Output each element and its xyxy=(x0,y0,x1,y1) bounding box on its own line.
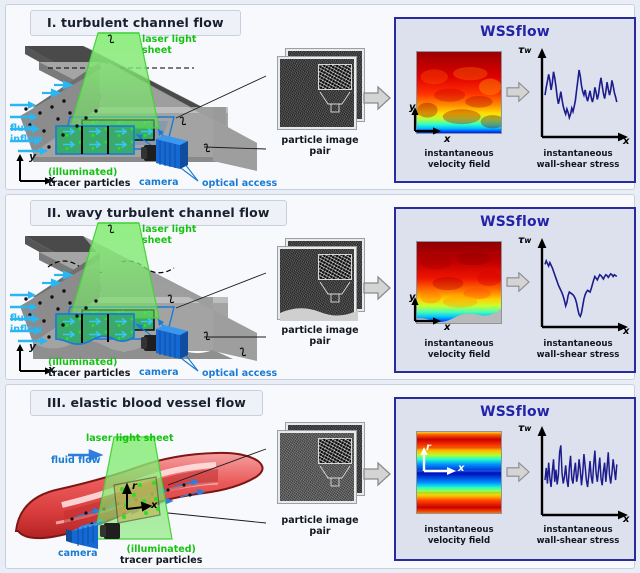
wssflow-title: WSSflow xyxy=(396,24,634,40)
label-laser-light-sheet: laser light sheet xyxy=(86,434,174,445)
vessel-axis-x-label: x xyxy=(151,500,157,511)
wssflow-title: WSSflow xyxy=(396,214,634,230)
label-laser-light-sheet: laser light sheet xyxy=(142,35,196,56)
velocity-field-r-label: r xyxy=(426,442,431,453)
particle-image-pair: particle image pair xyxy=(274,49,366,159)
velocity-field-caption: instantaneous velocity field xyxy=(404,525,514,546)
scene-wavy-turbulent-channel-duct: y x laser light sheet fluid inflow (illu… xyxy=(8,211,270,379)
wall-shear-stress-plot xyxy=(532,423,632,523)
stress-plot-svg xyxy=(532,235,632,335)
label-fluid-inflow: fluid inflow xyxy=(10,124,42,145)
velocity-field-caption: instantaneous velocity field xyxy=(404,149,514,170)
particle-image-front xyxy=(278,431,356,503)
label-laser-light-sheet: laser light sheet xyxy=(142,225,196,246)
velocity-field-y-label: y xyxy=(409,102,416,113)
particle-image-pair: particle image pair xyxy=(274,423,366,533)
stress-plot-caption: instantaneous wall-shear stress xyxy=(522,149,634,170)
particle-image-caption: particle image pair xyxy=(272,325,368,348)
velocity-field-y-label: y xyxy=(409,292,416,303)
tau-subscript: w xyxy=(524,424,531,433)
label-camera: camera xyxy=(139,368,178,379)
stress-plot-y-label: τw xyxy=(518,45,531,56)
tau-subscript: w xyxy=(524,236,531,245)
label-tracer-particles: (illuminated)tracer particles xyxy=(48,168,130,189)
wall-shear-stress-plot xyxy=(532,45,632,145)
panel-elastic-blood-vessel-flow: III. elastic blood vessel flow xyxy=(5,384,635,569)
label-optical-access: optical access xyxy=(202,369,277,380)
scene-elastic-blood-vessel: laser light sheet fluid flow camera (ill… xyxy=(8,401,270,569)
panel-turbulent-channel-flow: I. turbulent channel flow xyxy=(5,4,635,190)
label-tracer-particles: (illuminated)tracer particles xyxy=(48,358,130,379)
stress-plot-x-label: x xyxy=(623,136,629,147)
arrow-to-wssflow xyxy=(363,85,391,115)
label-optical-access: optical access xyxy=(202,179,277,190)
vessel-axis-r-label: r xyxy=(132,481,137,492)
stress-plot-y-label: τw xyxy=(518,423,531,434)
stress-plot-x-label: x xyxy=(623,326,629,337)
wssflow-title: WSSflow xyxy=(396,404,634,420)
arrow-field-to-stress xyxy=(506,271,530,297)
velocity-field-x-label: x xyxy=(444,134,450,145)
wssflow-box: WSSflow xyxy=(394,17,636,183)
label-tracer-particles: (illuminated)tracer particles xyxy=(120,545,202,566)
stress-plot-svg xyxy=(532,423,632,523)
label-camera: camera xyxy=(139,178,178,189)
arrow-to-wssflow xyxy=(363,275,391,305)
stress-plot-svg xyxy=(532,45,632,145)
label-camera: camera xyxy=(58,549,97,560)
arrow-field-to-stress xyxy=(506,461,530,487)
wall-shear-stress-plot xyxy=(532,235,632,335)
velocity-field-x-label: x xyxy=(458,463,464,474)
particle-image-front xyxy=(278,57,356,129)
stress-plot-y-label: τw xyxy=(518,235,531,246)
tau-subscript: w xyxy=(524,46,531,55)
stress-plot-caption: instantaneous wall-shear stress xyxy=(522,339,634,360)
wssflow-box: WSSflow xyxy=(394,207,636,373)
arrow-field-to-stress xyxy=(506,81,530,107)
velocity-field-x-label: x xyxy=(444,322,450,333)
figure-root: I. turbulent channel flow xyxy=(0,0,640,573)
scene-axis-y-label: y xyxy=(29,341,36,353)
panel-wavy-turbulent-channel-flow: II. wavy turbulent channel flow xyxy=(5,194,635,380)
particle-image-caption: particle image pair xyxy=(272,515,368,538)
particle-image-front xyxy=(278,247,356,319)
particle-image-caption: particle image pair xyxy=(272,135,368,158)
arrow-to-wssflow xyxy=(363,461,391,491)
scene-axis-y-label: y xyxy=(29,151,36,163)
wssflow-box: WSSflow xyxy=(394,397,636,561)
velocity-field-caption: instantaneous velocity field xyxy=(404,339,514,360)
stress-plot-caption: instantaneous wall-shear stress xyxy=(522,525,634,546)
stress-plot-x-label: x xyxy=(623,514,629,525)
label-fluid-inflow: fluid inflow xyxy=(10,314,42,335)
scene-turbulent-channel-duct: y x laser light sheet fluid inflow (illu… xyxy=(8,21,270,189)
particle-image-pair: particle image pair xyxy=(274,239,366,349)
label-fluid-flow: fluid flow xyxy=(51,456,101,467)
